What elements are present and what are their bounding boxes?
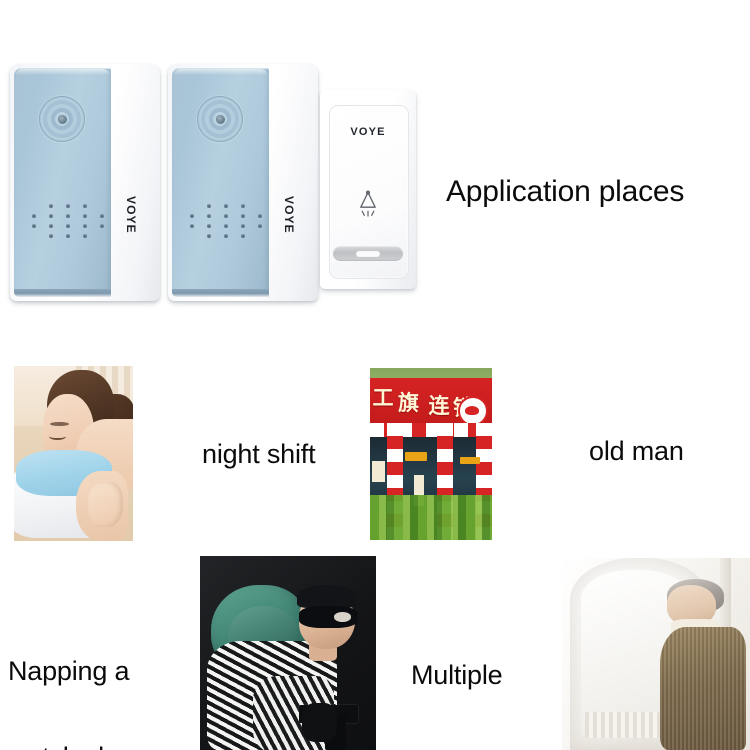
receiver-base-edge — [172, 289, 269, 297]
receiver-brand-label: VOYE — [124, 196, 138, 234]
doorbell-bell-icon — [353, 188, 383, 220]
photo-burglar: Masked burglar in striped shirt carrying… — [200, 556, 376, 750]
product-photo-group: VOYE VOYE VOYE — [0, 0, 430, 330]
push-button-transmitter: VOYE — [320, 90, 416, 289]
receiver-top-highlight — [16, 69, 109, 75]
receiver-brand-label: VOYE — [282, 196, 296, 234]
indicator-lens-icon — [39, 96, 85, 142]
speaker-grille-icon — [190, 204, 262, 238]
transmitter-press-switch[interactable] — [333, 246, 403, 261]
caption-napping-watch-shop-line1: Napping a — [8, 657, 143, 686]
speaker-grille-icon — [32, 204, 104, 238]
caption-night-shift: night shift — [202, 440, 315, 469]
caption-napping-watch-shop-line2: watch shop — [8, 743, 143, 750]
receiver-unit-1: VOYE — [10, 64, 160, 301]
photo-storefront: 工 旗 连 锁 Red and white checkered Chinese … — [370, 368, 492, 540]
photo-sleeping-woman: Woman napping on a blue and white pillow — [14, 366, 133, 541]
product-marketing-page: VOYE VOYE VOYE — [0, 0, 750, 750]
receiver-base-edge — [14, 289, 111, 297]
page-title: Application places — [446, 176, 684, 208]
receiver-unit-2: VOYE — [168, 64, 318, 301]
receiver-top-highlight — [174, 69, 267, 75]
caption-multiple-shops-line1: Multiple — [411, 661, 502, 690]
transmitter-brand-label: VOYE — [320, 126, 416, 138]
caption-napping-watch-shop: Napping a watch shop — [8, 600, 143, 750]
caption-multiple-shops: Multiple shops — [411, 604, 502, 750]
indicator-lens-icon — [197, 96, 243, 142]
photo-elderly-man: Elderly man in brown cardigan looking ou… — [562, 558, 750, 750]
caption-old-man: old man — [589, 437, 684, 466]
